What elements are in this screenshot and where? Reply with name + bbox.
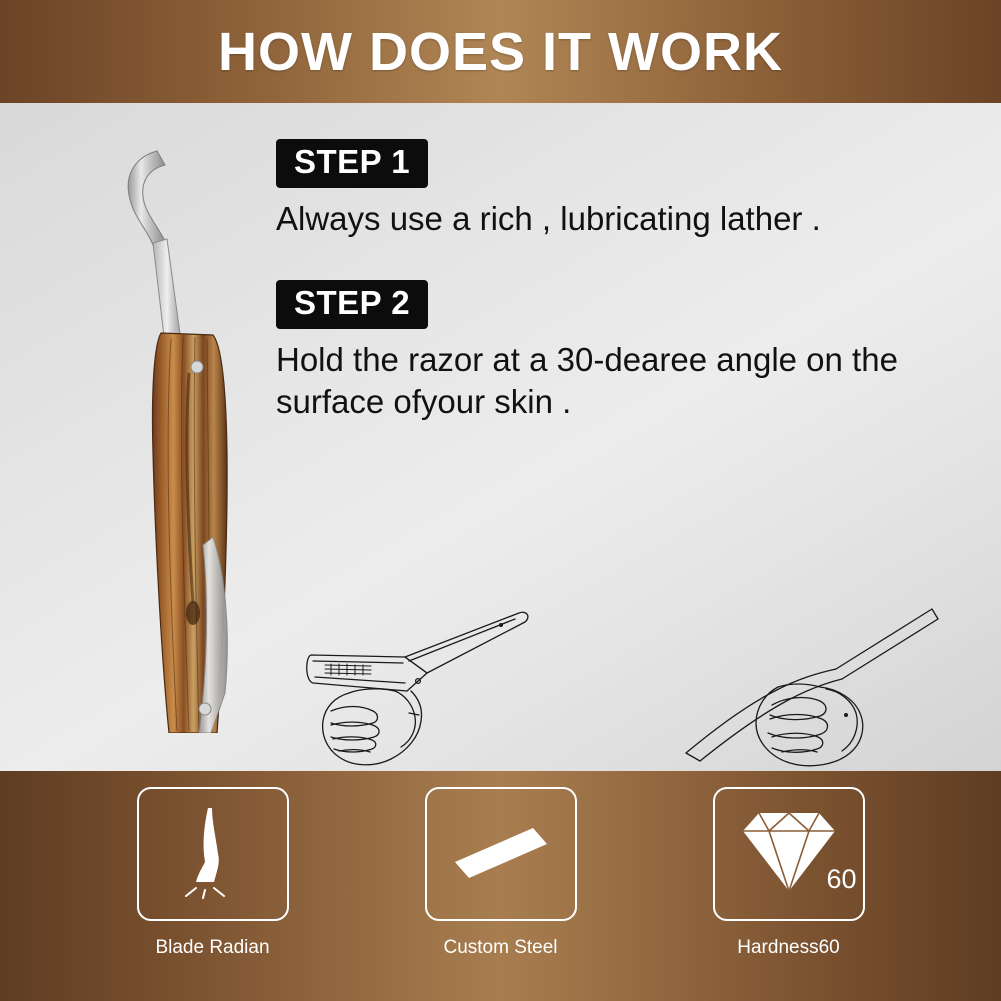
header-band: HOW DOES IT WORK: [0, 0, 1001, 103]
feature-label: Hardness60: [737, 937, 839, 959]
feature-box: 60: [713, 787, 865, 921]
custom-steel-icon: [447, 816, 555, 893]
feature-label: Blade Radian: [155, 937, 269, 959]
step-1: STEP 1 Always use a rich , lubricating l…: [276, 139, 986, 240]
step-1-text: Always use a rich , lubricating lather .: [276, 198, 982, 240]
steps-container: STEP 1 Always use a rich , lubricating l…: [276, 139, 986, 423]
step-2: STEP 2 Hold the razor at a 30-dearee ang…: [276, 280, 986, 423]
feature-blade-radian: Blade Radian: [133, 787, 293, 987]
feature-row: Blade Radian Custom Steel: [0, 787, 1001, 987]
step-1-badge: STEP 1: [276, 139, 428, 188]
main-body: STEP 1 Always use a rich , lubricating l…: [0, 103, 1001, 771]
hardness-badge: 60: [826, 864, 856, 895]
feature-hardness: 60 Hardness60: [709, 787, 869, 987]
hand-shaving-drawing: [660, 595, 950, 771]
feature-custom-steel: Custom Steel: [421, 787, 581, 987]
feature-box: [425, 787, 577, 921]
blade-radian-icon: [178, 804, 248, 905]
feature-label: Custom Steel: [443, 937, 557, 959]
footer-band: Blade Radian Custom Steel: [0, 771, 1001, 1001]
feature-box: [137, 787, 289, 921]
step-2-badge: STEP 2: [276, 280, 428, 329]
step-2-text: Hold the razor at a 30-dearee angle on t…: [276, 339, 982, 423]
razor-product-image: [95, 133, 275, 733]
infographic-page: HOW DOES IT WORK: [0, 0, 1001, 1001]
page-title: HOW DOES IT WORK: [218, 21, 783, 83]
hand-holding-razor-drawing: [287, 595, 587, 771]
